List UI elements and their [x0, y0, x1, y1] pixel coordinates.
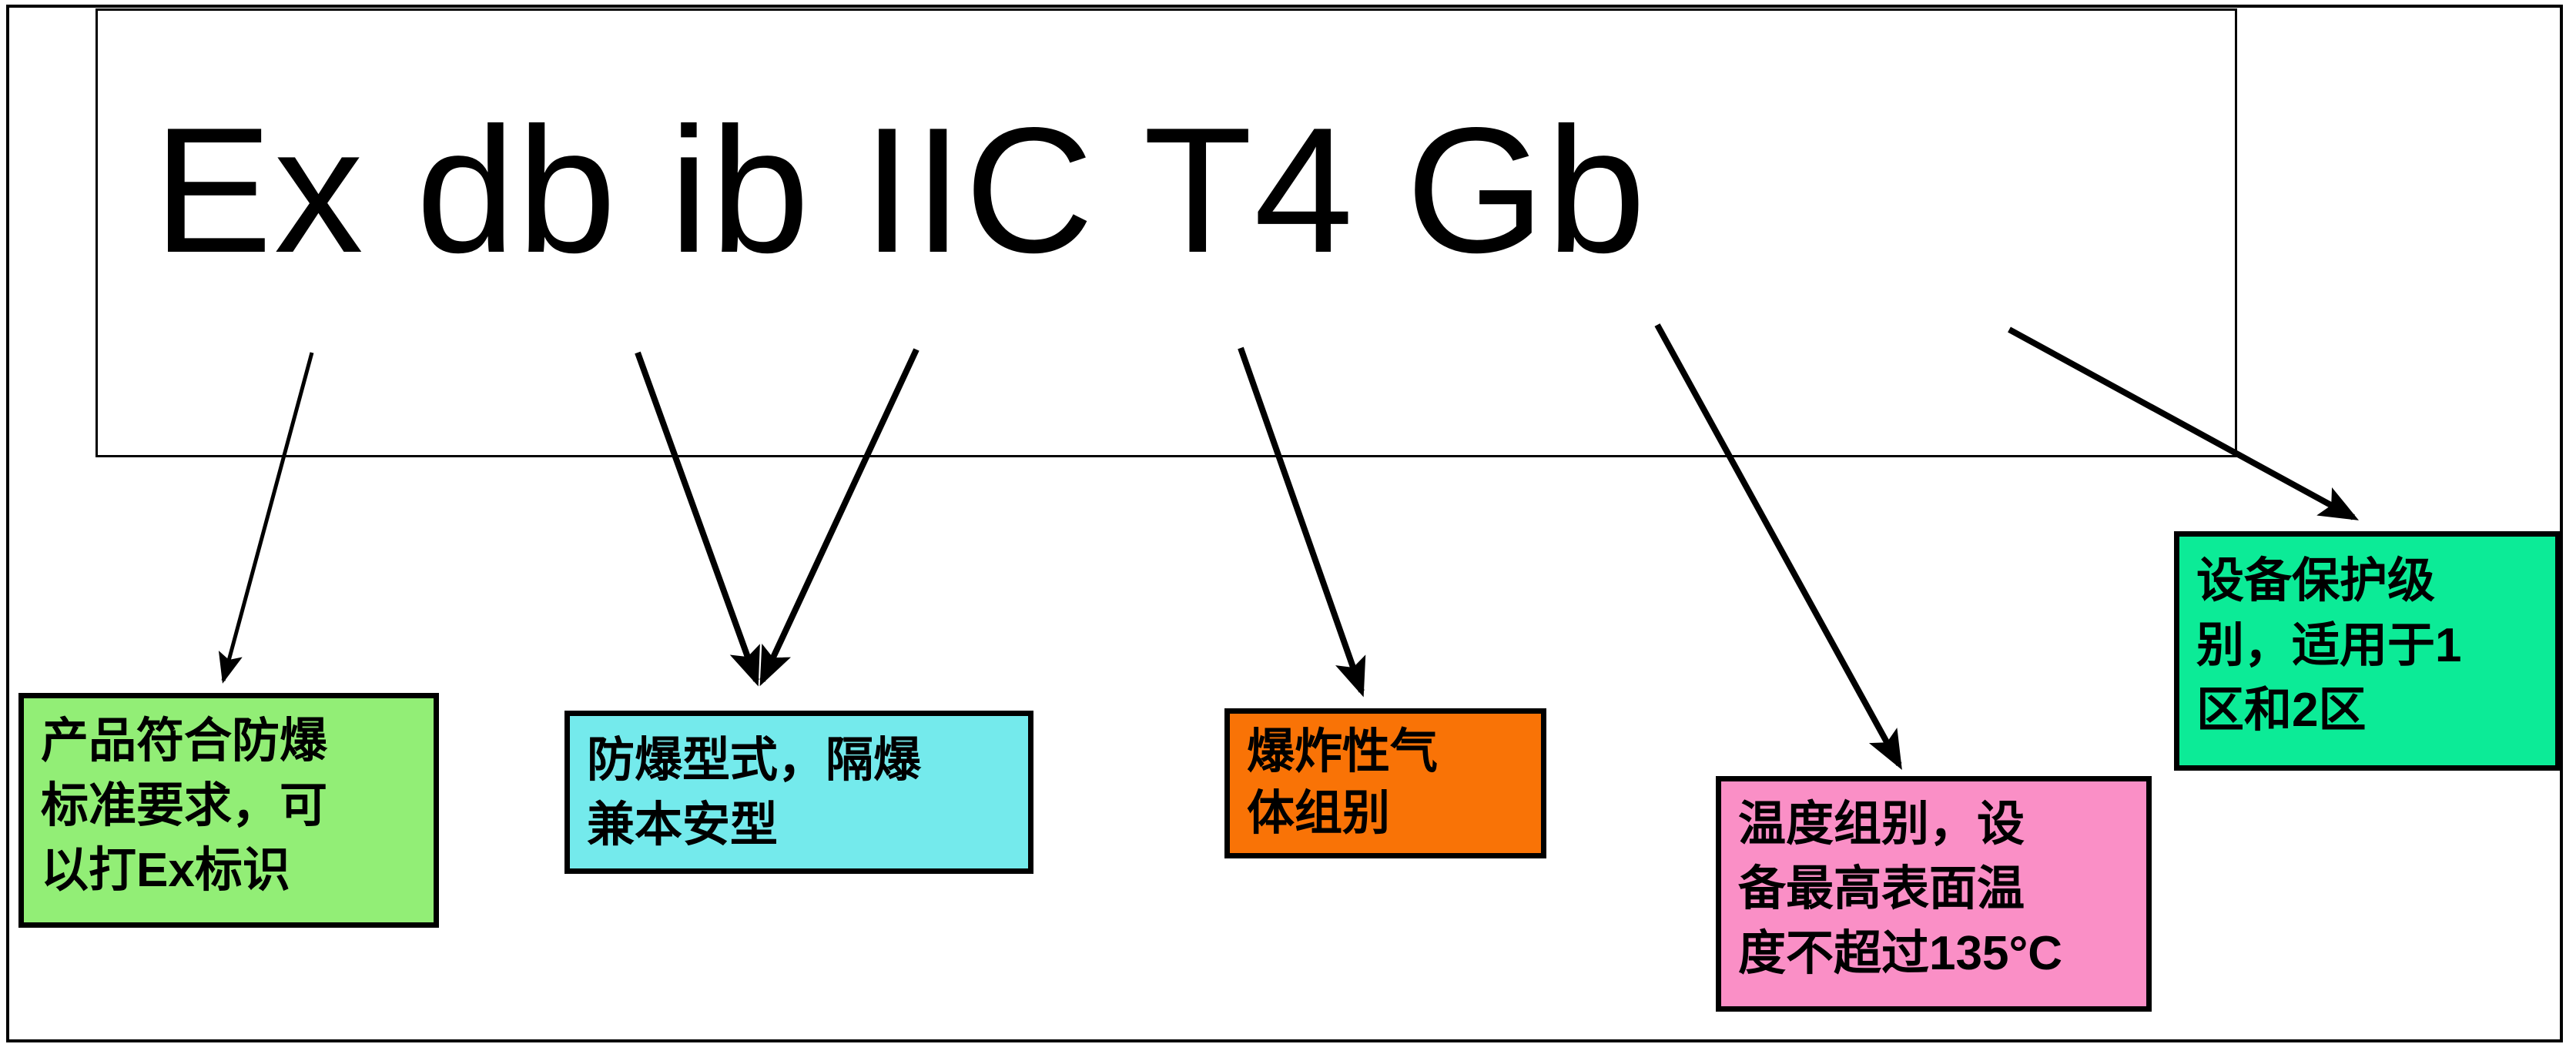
callout-temperature-class: 温度组别，设 备最高表面温 度不超过135°C [1716, 776, 2152, 1012]
ex-marking-text: Ex db ib IIC T4 Gb [153, 102, 1647, 280]
callout-gas-group: 爆炸性气 体组别 [1224, 708, 1546, 858]
ex-marking-box: Ex db ib IIC T4 Gb [95, 8, 2237, 457]
callout-equipment-protection-level: 设备保护级 别，适用于1 区和2区 [2174, 531, 2561, 771]
diagram-canvas: Ex db ib IIC T4 Gb 产品符合防爆 标准要求，可 以打Ex标识 … [0, 0, 2576, 1054]
callout-product-compliance: 产品符合防爆 标准要求，可 以打Ex标识 [18, 693, 439, 928]
callout-protection-type: 防爆型式，隔爆 兼本安型 [564, 711, 1033, 874]
